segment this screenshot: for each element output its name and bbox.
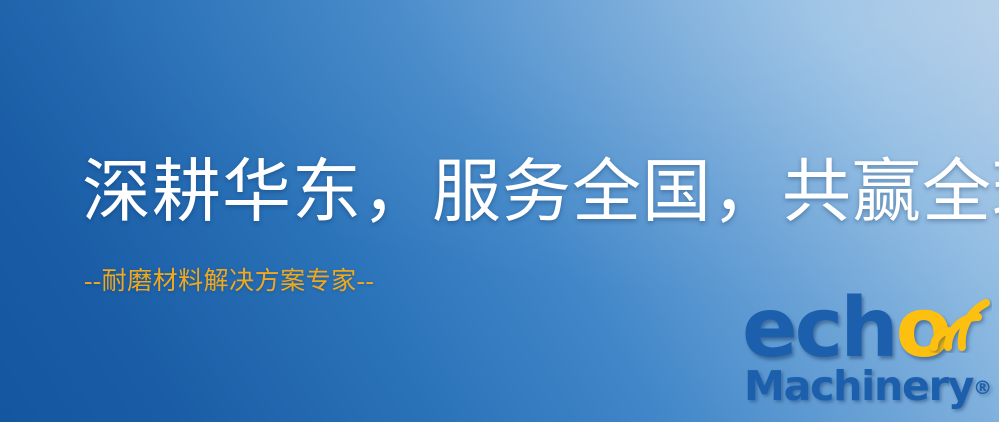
hero-banner: 深耕华东，服务全国，共赢全球 --耐磨材料解决方案专家-- echo Machi… (0, 0, 999, 422)
logo-tagline: Machinery® (744, 364, 992, 410)
logo-wordmark: echo (742, 288, 949, 370)
banner-subtitle: --耐磨材料解决方案专家-- (84, 266, 374, 298)
signal-arcs-icon (926, 291, 992, 353)
registered-trademark-icon: ® (973, 377, 992, 399)
logo-tagline-text: Machinery (744, 362, 973, 410)
echo-machinery-logo[interactable]: echo Machinery® (742, 292, 994, 420)
banner-headline: 深耕华东，服务全国，共赢全球 (82, 150, 999, 234)
